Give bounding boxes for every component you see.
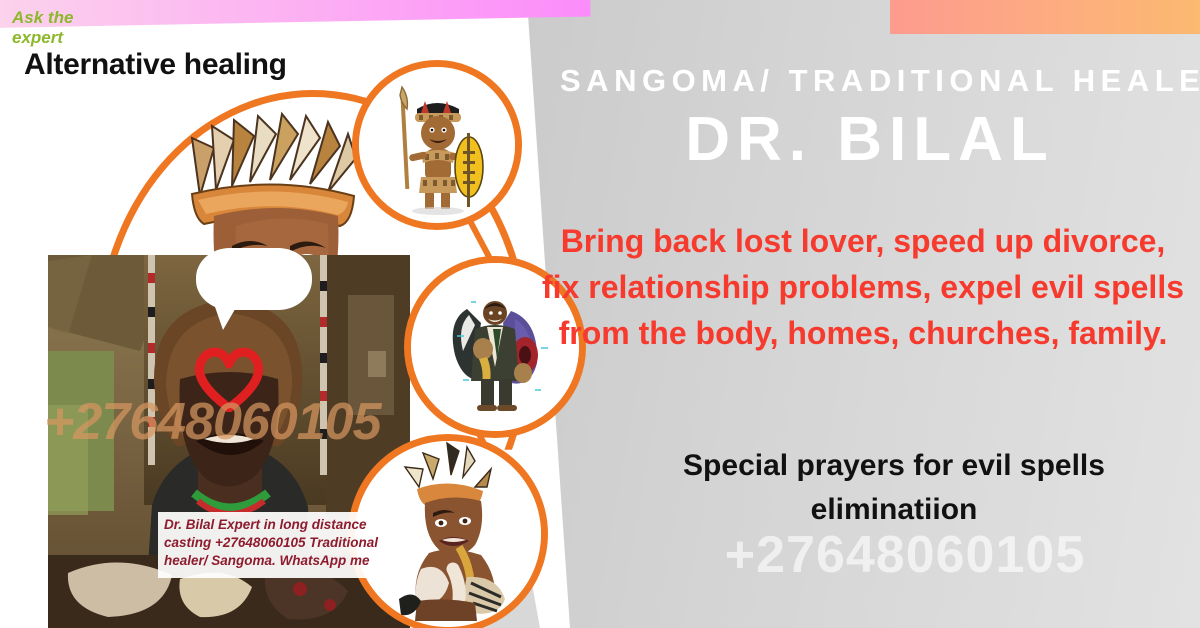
ghost-phone-number: +27648060105 bbox=[620, 525, 1190, 585]
speech-bubble bbox=[196, 248, 312, 310]
photo-watermark-phone: +27648060105 bbox=[44, 392, 381, 452]
page-title: Alternative healing bbox=[24, 48, 287, 82]
top-orange-accent-bar bbox=[890, 0, 1200, 34]
services-description: Bring back lost lover, speed up divorce,… bbox=[538, 218, 1188, 356]
photo-caption: Dr. Bilal Expert in long distance castin… bbox=[158, 512, 406, 578]
kicker-heading: SANGOMA/ TRADITIONAL HEALER bbox=[560, 63, 1180, 99]
promo-poster: Alternative healing bbox=[0, 0, 1200, 628]
doctor-name-heading: DR. BILAL bbox=[560, 104, 1180, 175]
circle-image-zulu-warrior bbox=[352, 60, 522, 230]
special-offer-text: Special prayers for evil spells eliminat… bbox=[600, 444, 1188, 532]
speech-bubble-label: Ask the expert bbox=[12, 8, 108, 48]
